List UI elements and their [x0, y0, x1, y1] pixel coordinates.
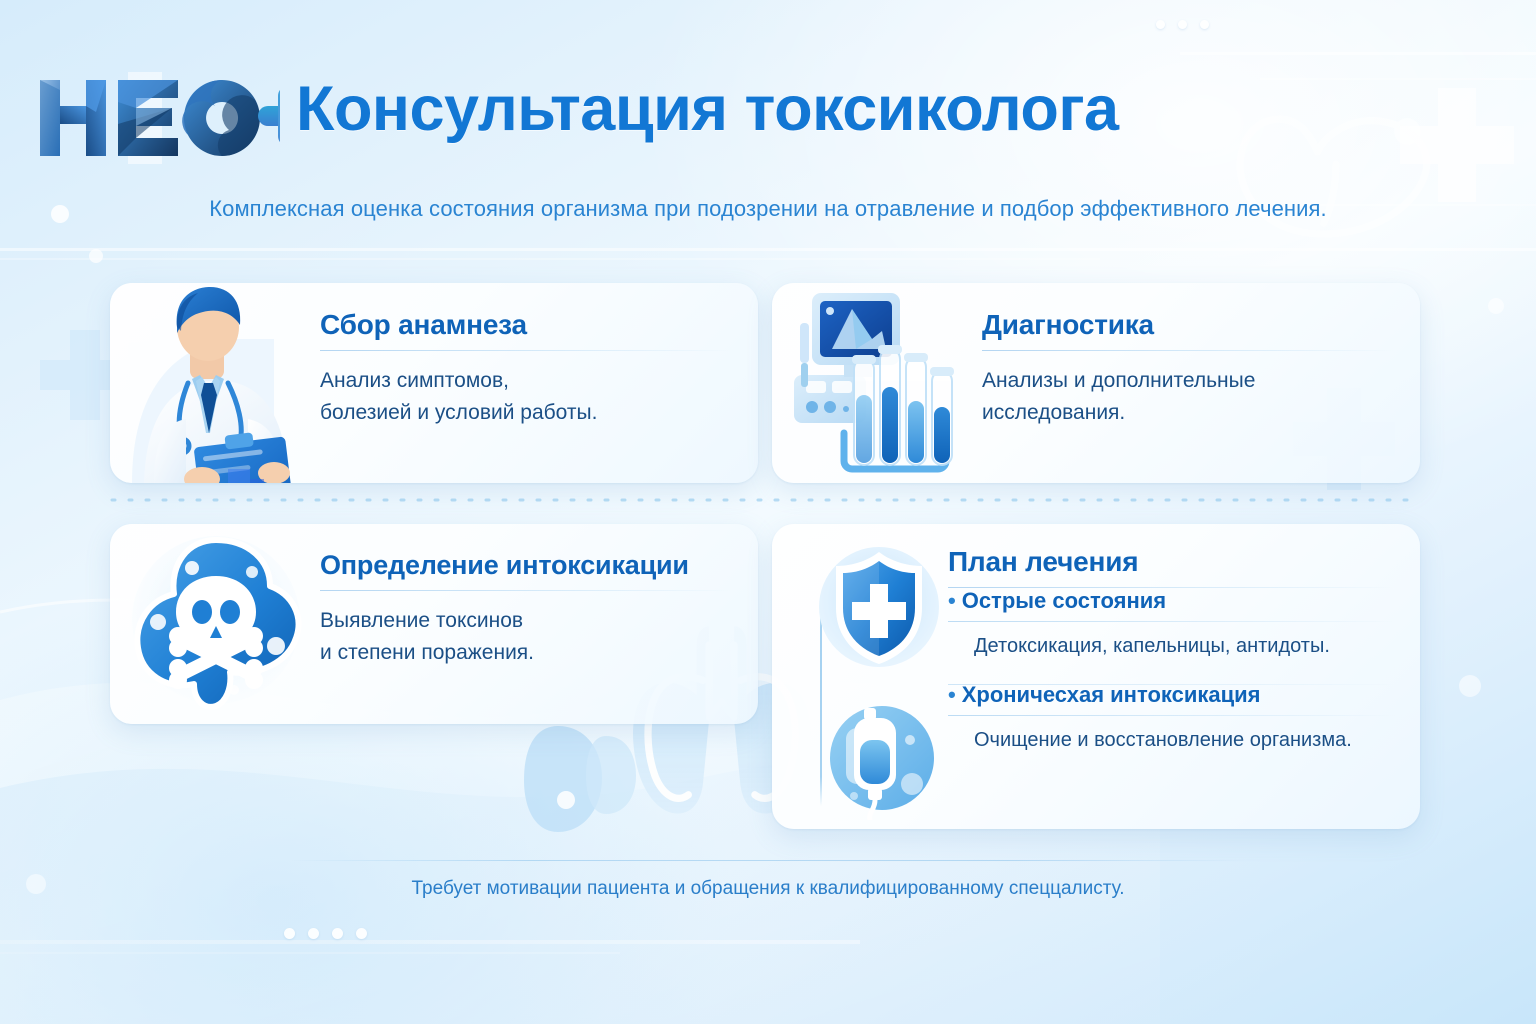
lab-equipment-test-tubes-icon — [786, 283, 976, 483]
plan-divider — [948, 621, 1396, 622]
plan-section-chronic: •Хроничесхая интоксикация Очищение и вос… — [948, 682, 1396, 754]
skull-and-crossbones-toxic-icon — [124, 524, 314, 724]
card-text-line: и степени поражения. — [320, 637, 732, 669]
card-title: Диагностика — [982, 309, 1394, 341]
card-text-line: болезией и условий работы. — [320, 397, 732, 429]
title-divider — [982, 350, 1394, 351]
plan-section-separator — [948, 684, 1396, 685]
plan-section-acute: •Острые состояния Детоксикация, капельни… — [948, 588, 1396, 660]
card-anamnesis-body: Сбор анамнеза Анализ симптомов, болезией… — [320, 309, 732, 429]
card-text-line: Анализы и дополнительные — [982, 365, 1394, 397]
bullet-glyph: • — [948, 588, 956, 613]
card-treatment-body: План лечения •Острые состояния Детоксика… — [948, 546, 1396, 754]
card-text: Анализы и дополнительные исследования. — [982, 365, 1394, 429]
doctor-with-clipboard-icon — [124, 283, 314, 483]
title-divider — [320, 350, 732, 351]
card-title: Сбор анамнеза — [320, 309, 732, 341]
plan-section-text: Очищение и восстановление организма. — [974, 726, 1396, 754]
plan-section-text: Детоксикация, капельницы, антидоты. — [974, 632, 1396, 660]
card-text-line: исследования. — [982, 397, 1394, 429]
card-text-line: Анализ симптомов, — [320, 365, 732, 397]
card-text: Выявление токсинов и степени поражения. — [320, 605, 732, 669]
poster-header: Консультация токсиколога Комплексная оце… — [0, 0, 1536, 250]
plan-heading-text: Острые состояния — [962, 588, 1166, 613]
decorative-dots-top-right — [1156, 20, 1209, 29]
decorative-dots-bottom — [284, 928, 367, 939]
card-text: Анализ симптомов, болезией и условий раб… — [320, 365, 732, 429]
title-divider — [320, 590, 732, 591]
page-title: Консультация токсиколога — [296, 73, 1119, 145]
plan-divider — [948, 715, 1396, 716]
card-anamnesis[interactable]: Сбор анамнеза Анализ симптомов, болезией… — [110, 283, 758, 483]
plan-section-heading: •Острые состояния — [948, 588, 1396, 614]
card-title: Определение интоксикации — [320, 550, 732, 581]
plan-heading-text: Хроничесхая интоксикация — [962, 682, 1261, 707]
bullet-glyph: • — [948, 682, 956, 707]
brand-logo — [32, 72, 280, 164]
iv-drip-bag-icon — [824, 700, 944, 820]
card-title: План лечения — [948, 546, 1396, 578]
card-diagnostics[interactable]: Диагностика Анализы и дополнительные исс… — [772, 283, 1420, 483]
card-text-line: Выявление токсинов — [320, 605, 732, 637]
card-diagnostics-body: Диагностика Анализы и дополнительные исс… — [982, 309, 1394, 429]
footer-divider — [290, 860, 1246, 861]
card-treatment-plan[interactable]: План лечения •Острые состояния Детоксика… — [772, 524, 1420, 829]
card-intoxication[interactable]: Определение интоксикации Выявление токси… — [110, 524, 758, 724]
plan-section-heading: •Хроничесхая интоксикация — [948, 682, 1396, 708]
page-subtitle: Комплексная оценка состояния организма п… — [0, 196, 1536, 222]
shield-with-cross-icon — [814, 542, 944, 672]
card-intoxication-body: Определение интоксикации Выявление токси… — [320, 550, 732, 669]
infographic-poster: Консультация токсиколога Комплексная оце… — [0, 0, 1536, 1024]
footer-note: Требует мотивации пациента и обращения к… — [0, 878, 1536, 900]
